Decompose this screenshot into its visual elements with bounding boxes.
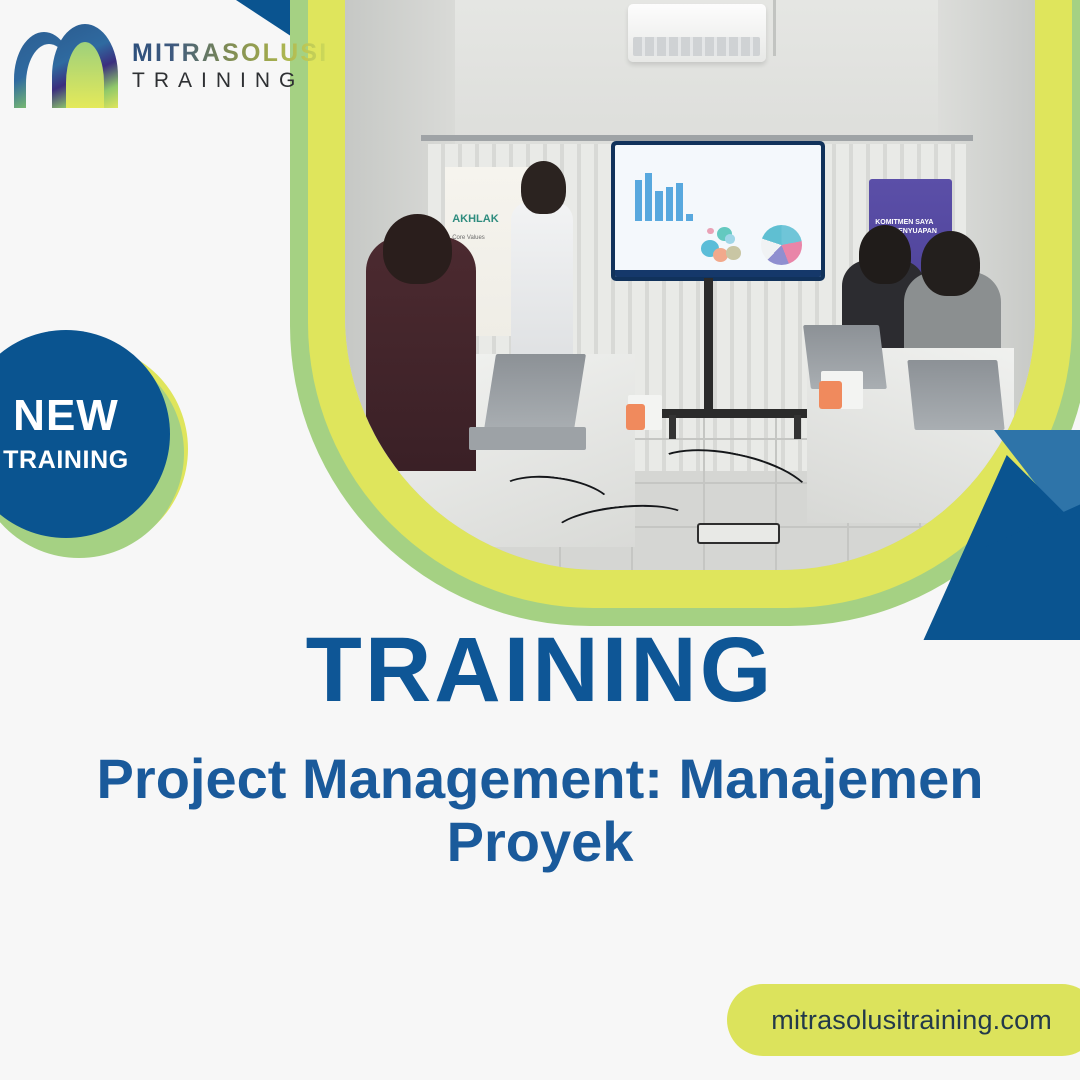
- display-screen: [615, 145, 821, 277]
- page-subtitle: Project Management: Manajemen Proyek: [48, 748, 1032, 873]
- page-title: TRAINING: [0, 618, 1080, 723]
- bar: [676, 183, 683, 221]
- brand-wordmark: MITRASOLUSI TRAINING: [132, 37, 328, 94]
- training-photo: AKHLAK Core Values KOMITMEN SAYA ANTI PE…: [345, 0, 1035, 570]
- person-left-head: [383, 214, 452, 284]
- website-url: mitrasolusitraining.com: [771, 1005, 1052, 1036]
- presentation-display: [611, 141, 825, 281]
- laptop-right-front-screen: [907, 360, 1004, 430]
- laptop-left-base: [469, 427, 586, 450]
- display-stand-leg-right: [794, 415, 801, 438]
- tissue-box-right: [821, 371, 862, 409]
- banner-akhlak-title: AKHLAK: [452, 213, 498, 225]
- brand-name: MITRASOLUSI: [132, 41, 328, 66]
- badge-line-1: NEW: [13, 394, 119, 438]
- bar: [666, 187, 673, 222]
- bar: [686, 214, 693, 221]
- person-presenter-body: [511, 202, 573, 377]
- bar: [645, 173, 652, 222]
- person-right-front-head: [921, 231, 980, 295]
- badge-line-2: TRAINING: [3, 446, 129, 475]
- mitrasolusi-m-monogram-icon: [14, 24, 118, 108]
- new-training-badge[interactable]: NEW TRAINING: [0, 330, 192, 560]
- website-pill[interactable]: mitrasolusitraining.com: [727, 984, 1080, 1056]
- power-strip: [697, 523, 780, 543]
- display-stand-pole: [704, 278, 713, 412]
- brand-logo[interactable]: MITRASOLUSI TRAINING: [14, 24, 328, 108]
- laptop-left-screen: [484, 354, 586, 430]
- person-right-back-head: [859, 225, 911, 283]
- poster-canvas: AKHLAK Core Values KOMITMEN SAYA ANTI PE…: [0, 0, 1080, 1080]
- bar: [635, 180, 642, 221]
- display-taskbar: [615, 270, 821, 277]
- person-presenter-head: [521, 161, 566, 214]
- brand-tagline: TRAINING: [132, 68, 328, 94]
- tissue-box-left: [628, 395, 663, 430]
- display-stand-base: [659, 409, 811, 418]
- ac-pipe: [773, 0, 776, 56]
- screen-bar-chart: [635, 169, 693, 222]
- photo-scene: AKHLAK Core Values KOMITMEN SAYA ANTI PE…: [345, 0, 1035, 570]
- screen-bubble-chart: [701, 224, 746, 266]
- screen-pie-chart: [761, 225, 802, 265]
- air-conditioner-icon: [628, 4, 766, 62]
- bar: [655, 191, 662, 222]
- display-stand-leg-left: [669, 415, 676, 438]
